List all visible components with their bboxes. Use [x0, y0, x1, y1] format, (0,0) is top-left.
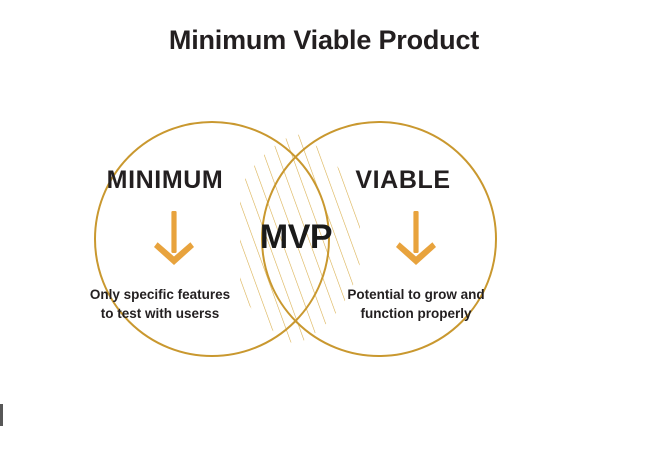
left-set-body: Only specific features to test with user…: [66, 286, 254, 323]
right-set-body-line-2: function properly: [330, 305, 502, 324]
right-set-body: Potential to grow and function properly: [330, 286, 502, 323]
intersection-label: MVP: [241, 218, 351, 257]
down-arrow-icon-left: [154, 211, 194, 265]
diagram-canvas: Minimum Viable Product: [0, 0, 648, 456]
left-set-body-line-2: to test with userss: [66, 305, 254, 324]
corner-artifact: [0, 404, 3, 426]
right-set-body-line-1: Potential to grow and: [330, 286, 502, 305]
down-arrow-icon-right: [396, 211, 436, 265]
right-set-heading: VIABLE: [325, 166, 481, 195]
left-set-heading: MINIMUM: [75, 166, 255, 195]
left-set-body-line-1: Only specific features: [66, 286, 254, 305]
